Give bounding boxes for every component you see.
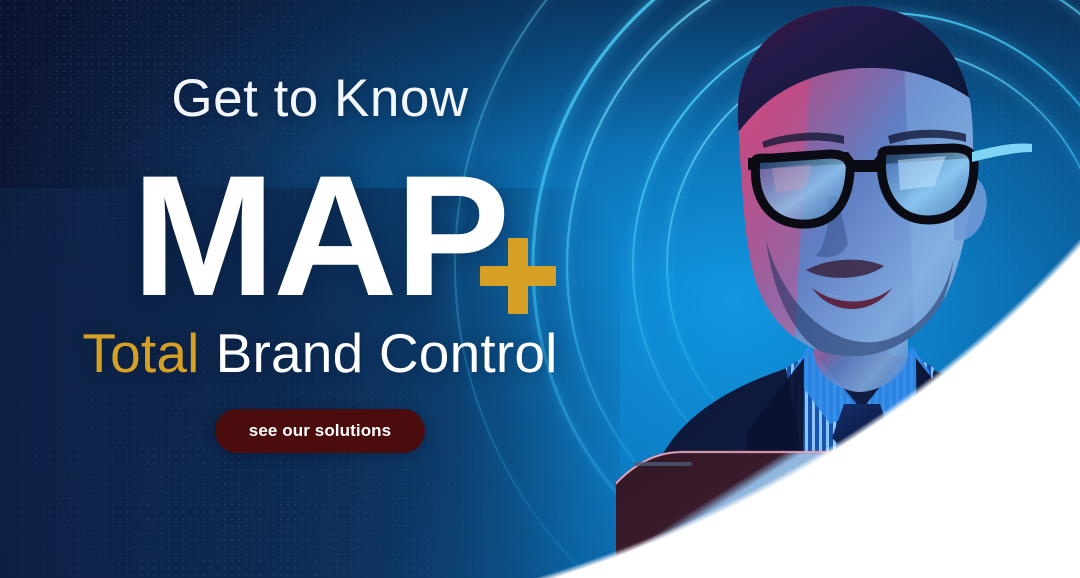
wordmark-label: MAP bbox=[132, 140, 508, 332]
plus-icon bbox=[480, 238, 556, 314]
banner-copy: Get to Know MAP TotalBrand Control see o… bbox=[0, 0, 640, 578]
banner-stage: Get to Know MAP TotalBrand Control see o… bbox=[0, 0, 1080, 578]
subline-highlight: Total bbox=[82, 322, 199, 384]
tablet-device bbox=[616, 452, 943, 578]
cta-container: see our solutions bbox=[0, 409, 640, 453]
subline-text: TotalBrand Control bbox=[0, 326, 640, 381]
subline-rest: Brand Control bbox=[216, 322, 558, 384]
wordmark-text: MAP bbox=[132, 150, 508, 322]
eyebrow-text: Get to Know bbox=[0, 72, 640, 125]
promo-banner: Get to Know MAP TotalBrand Control see o… bbox=[0, 0, 1080, 578]
businessman-photo bbox=[616, 0, 1080, 578]
see-our-solutions-button[interactable]: see our solutions bbox=[215, 409, 425, 453]
wordmark-container: MAP bbox=[0, 150, 640, 322]
